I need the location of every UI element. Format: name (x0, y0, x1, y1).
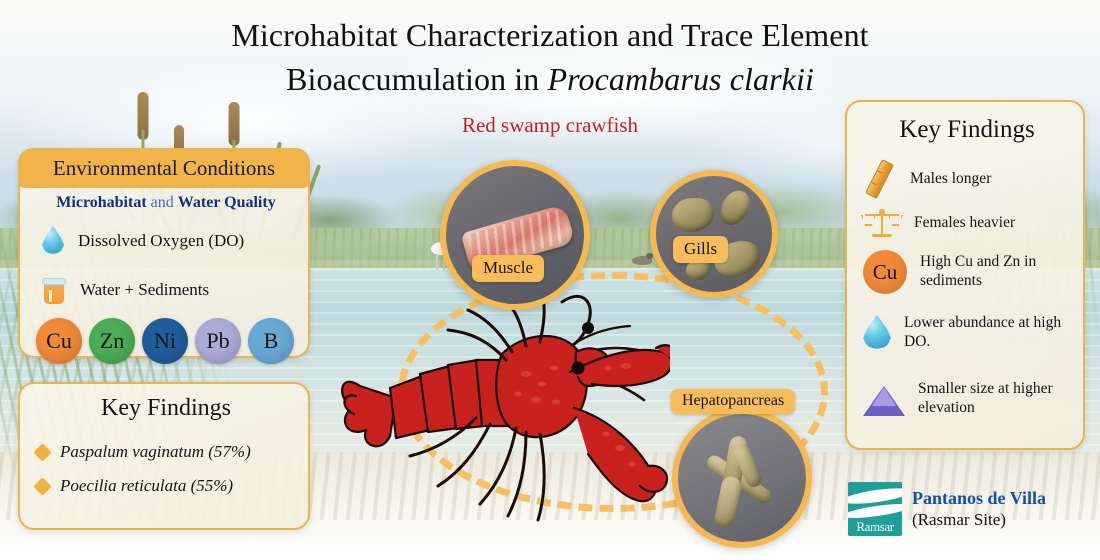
key-finding-text: High Cu and Zn in sediments (920, 253, 1077, 291)
organ-photo-gills (650, 170, 778, 298)
key-findings-left-item-text: Poecilia reticulata (55%) (60, 476, 233, 496)
env-row-dissolved-oxygen: Dissolved Oxygen (DO) (42, 226, 244, 256)
key-finding-males-longer: Males longer (863, 160, 1077, 198)
element-badge-zn: Zn (89, 318, 135, 364)
key-finding-smaller-size-elevation: Smaller size at higher elevation (863, 380, 1077, 418)
key-finding-text: Lower abundance at high DO. (904, 314, 1077, 352)
subheader-water-quality: Water Quality (178, 194, 276, 211)
balance-scale-icon (863, 206, 901, 240)
element-badge-ni: Ni (142, 318, 188, 364)
env-label-dissolved-oxygen: Dissolved Oxygen (DO) (78, 231, 244, 251)
key-findings-right-panel: Key Findings Males longer Females heavie… (845, 100, 1085, 450)
key-finding-high-cu-zn: Cu High Cu and Zn in sediments (863, 250, 1077, 294)
title-line-1: Microhabitat Characterization and Trace … (0, 14, 1100, 58)
key-findings-left-panel: Key Findings Paspalum vaginatum (57%) Po… (18, 382, 310, 530)
key-finding-text: Smaller size at higher elevation (918, 380, 1077, 418)
mountain-icon (863, 382, 905, 416)
organ-photo-hepatopancreas (672, 408, 812, 548)
gills-photo (656, 176, 772, 292)
key-findings-right-title: Key Findings (847, 116, 1087, 144)
key-findings-left-item: Poecilia reticulata (55%) (36, 476, 233, 496)
hepatopancreas-photo (678, 414, 806, 542)
organ-label-gills: Gills (673, 236, 728, 263)
diamond-bullet-icon (33, 477, 51, 495)
env-label-water-sediments: Water + Sediments (80, 280, 209, 300)
key-findings-left-item-text: Paspalum vaginatum (57%) (60, 442, 251, 462)
key-finding-text: Females heavier (914, 214, 1015, 233)
beaker-icon (42, 274, 66, 306)
subheader-conjunction: and (147, 194, 178, 211)
water-drop-icon (42, 226, 64, 256)
water-drop-icon (863, 315, 891, 351)
organ-photo-muscle (440, 160, 590, 310)
ramsar-site-type: (Rasmar Site) (912, 510, 1046, 530)
subheader-microhabitat: Microhabitat (56, 194, 146, 211)
muscle-photo (446, 166, 584, 304)
environmental-conditions-panel: Environmental Conditions Microhabitat an… (18, 148, 310, 358)
key-finding-lower-abundance: Lower abundance at high DO. (863, 314, 1077, 352)
duck-bird (630, 253, 656, 265)
title-line-2-prefix: Bioaccumulation in (286, 61, 547, 97)
element-badge-pb: Pb (195, 318, 241, 364)
key-findings-left-title: Key Findings (20, 395, 312, 422)
title-species-name: Procambarus clarkii (547, 61, 813, 97)
ramsar-site-name: Pantanos de Villa (912, 488, 1046, 510)
ruler-icon (863, 160, 897, 198)
ramsar-logo-wordmark: Ramsar (848, 519, 902, 535)
trace-element-list: Cu Zn Ni Pb B (36, 318, 294, 364)
infographic-canvas: Microhabitat Characterization and Trace … (0, 0, 1100, 560)
ramsar-site-text: Pantanos de Villa (Rasmar Site) (912, 488, 1046, 530)
diamond-bullet-icon (33, 443, 51, 461)
gill-tissue-sample (716, 186, 754, 229)
element-badge-cu: Cu (36, 318, 82, 364)
page-title: Microhabitat Characterization and Trace … (0, 14, 1100, 101)
gill-tissue-sample (686, 260, 710, 280)
organ-label-hepatopancreas: Hepatopancreas (671, 389, 795, 414)
title-line-2: Bioaccumulation in Procambarus clarkii (0, 58, 1100, 102)
ramsar-logo-icon: Ramsar (848, 482, 902, 536)
cu-element-icon: Cu (863, 250, 907, 294)
ramsar-site-footer: Ramsar Pantanos de Villa (Rasmar Site) (848, 478, 1088, 540)
gill-tissue-sample (672, 198, 714, 232)
key-finding-females-heavier: Females heavier (863, 206, 1077, 240)
element-badge-b: B (248, 318, 294, 364)
key-finding-text: Males longer (910, 170, 991, 189)
organ-label-muscle: Muscle (472, 255, 544, 282)
env-row-water-sediments: Water + Sediments (42, 274, 209, 306)
key-findings-left-item: Paspalum vaginatum (57%) (36, 442, 251, 462)
hepatopancreas-lobe (713, 474, 743, 529)
environmental-conditions-subheader: Microhabitat and Water Quality (20, 194, 312, 212)
crawfish-illustration (330, 268, 670, 548)
environmental-conditions-header: Environmental Conditions (18, 148, 310, 188)
